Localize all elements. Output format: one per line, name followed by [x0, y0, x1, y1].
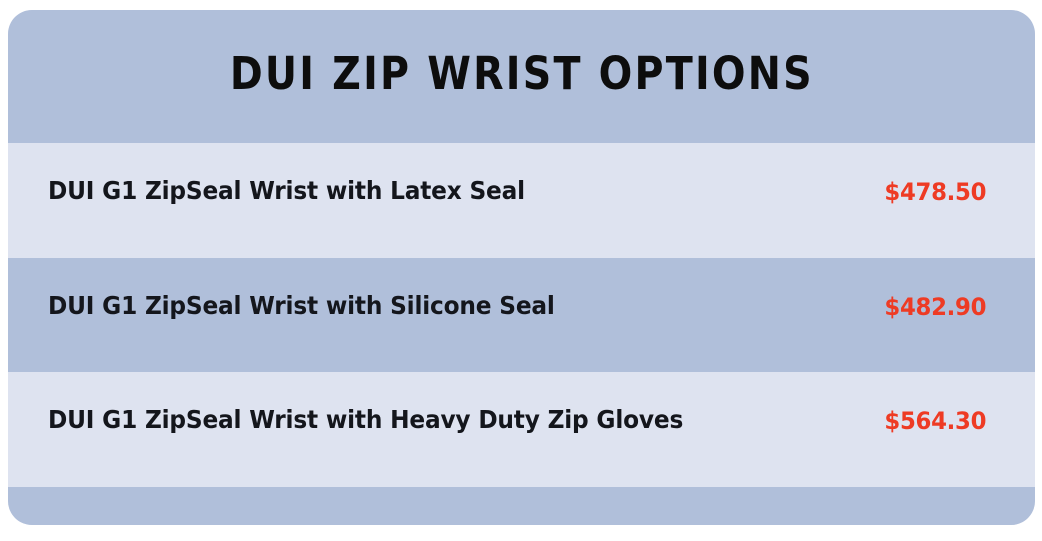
table-row[interactable]: DUI G1 ZipSeal Wrist with Latex Seal $47…	[8, 143, 1035, 258]
option-price: $564.30	[884, 407, 986, 435]
option-price: $478.50	[884, 178, 986, 206]
option-label: DUI G1 ZipSeal Wrist with Heavy Duty Zip…	[48, 405, 683, 435]
page-title: DUI ZIP WRIST OPTIONS	[229, 51, 813, 96]
option-label: DUI G1 ZipSeal Wrist with Latex Seal	[48, 176, 525, 206]
zip-wrist-options-card: DUI ZIP WRIST OPTIONS DUI G1 ZipSeal Wri…	[8, 10, 1035, 525]
option-price: $482.90	[884, 293, 986, 321]
table-row[interactable]: DUI G1 ZipSeal Wrist with Silicone Seal …	[8, 258, 1035, 373]
card-header: DUI ZIP WRIST OPTIONS	[8, 10, 1035, 143]
card-footer	[8, 487, 1035, 526]
option-label: DUI G1 ZipSeal Wrist with Silicone Seal	[48, 291, 555, 321]
table-row[interactable]: DUI G1 ZipSeal Wrist with Heavy Duty Zip…	[8, 372, 1035, 487]
